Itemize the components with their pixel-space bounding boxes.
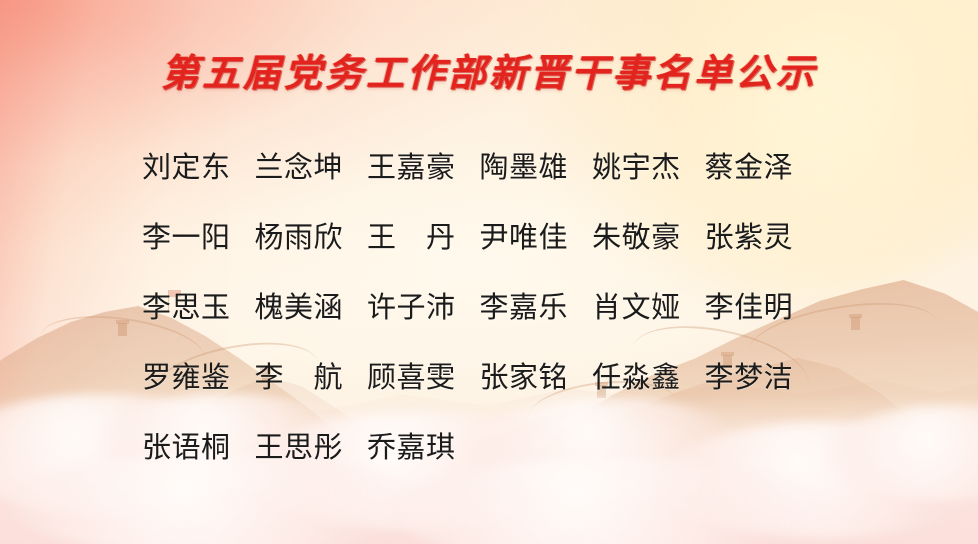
name-item: 顾喜雯 <box>367 354 456 396</box>
name-item: 陶墨雄 <box>480 144 569 186</box>
name-row: 罗雍鉴 李 航 顾喜雯 张家铭 任淼鑫 李梦洁 <box>142 340 842 410</box>
announced-name-list: 刘定东 兰念坤 王嘉豪 陶墨雄 姚宇杰 蔡金泽 李一阳 杨雨欣 王 丹 尹唯佳 … <box>142 130 842 480</box>
name-item: 李 航 <box>255 354 344 396</box>
name-row: 张语桐 王思彤 乔嘉琪 <box>142 410 842 480</box>
name-item: 兰念坤 <box>255 144 344 186</box>
name-item: 槐美涵 <box>255 284 344 326</box>
name-item: 刘定东 <box>142 144 231 186</box>
name-item: 朱敬豪 <box>592 214 681 256</box>
name-item: 张紫灵 <box>705 214 794 256</box>
name-row: 李思玉 槐美涵 许子沛 李嘉乐 肖文娅 李佳明 <box>142 270 842 340</box>
name-item: 罗雍鉴 <box>142 354 231 396</box>
name-item: 李佳明 <box>705 284 794 326</box>
name-item: 王 丹 <box>367 214 456 256</box>
name-item: 李嘉乐 <box>480 284 569 326</box>
name-item: 尹唯佳 <box>480 214 569 256</box>
name-item: 杨雨欣 <box>255 214 344 256</box>
name-item: 王嘉豪 <box>367 144 456 186</box>
name-item: 李思玉 <box>142 284 231 326</box>
name-item: 李梦洁 <box>705 354 794 396</box>
name-item: 蔡金泽 <box>705 144 794 186</box>
name-item: 乔嘉琪 <box>367 424 456 466</box>
name-item: 许子沛 <box>367 284 456 326</box>
poster-canvas: 第五届党务工作部新晋干事名单公示 刘定东 兰念坤 王嘉豪 陶墨雄 姚宇杰 蔡金泽… <box>0 0 978 544</box>
name-item: 李一阳 <box>142 214 231 256</box>
name-row: 刘定东 兰念坤 王嘉豪 陶墨雄 姚宇杰 蔡金泽 <box>142 130 842 200</box>
name-item: 王思彤 <box>255 424 344 466</box>
name-item: 张家铭 <box>480 354 569 396</box>
name-row: 李一阳 杨雨欣 王 丹 尹唯佳 朱敬豪 张紫灵 <box>142 200 842 270</box>
poster-content: 第五届党务工作部新晋干事名单公示 刘定东 兰念坤 王嘉豪 陶墨雄 姚宇杰 蔡金泽… <box>0 0 978 544</box>
name-item: 姚宇杰 <box>592 144 681 186</box>
name-item: 张语桐 <box>142 424 231 466</box>
poster-title: 第五届党务工作部新晋干事名单公示 <box>0 42 978 97</box>
name-item: 肖文娅 <box>592 284 681 326</box>
name-item: 任淼鑫 <box>592 354 681 396</box>
